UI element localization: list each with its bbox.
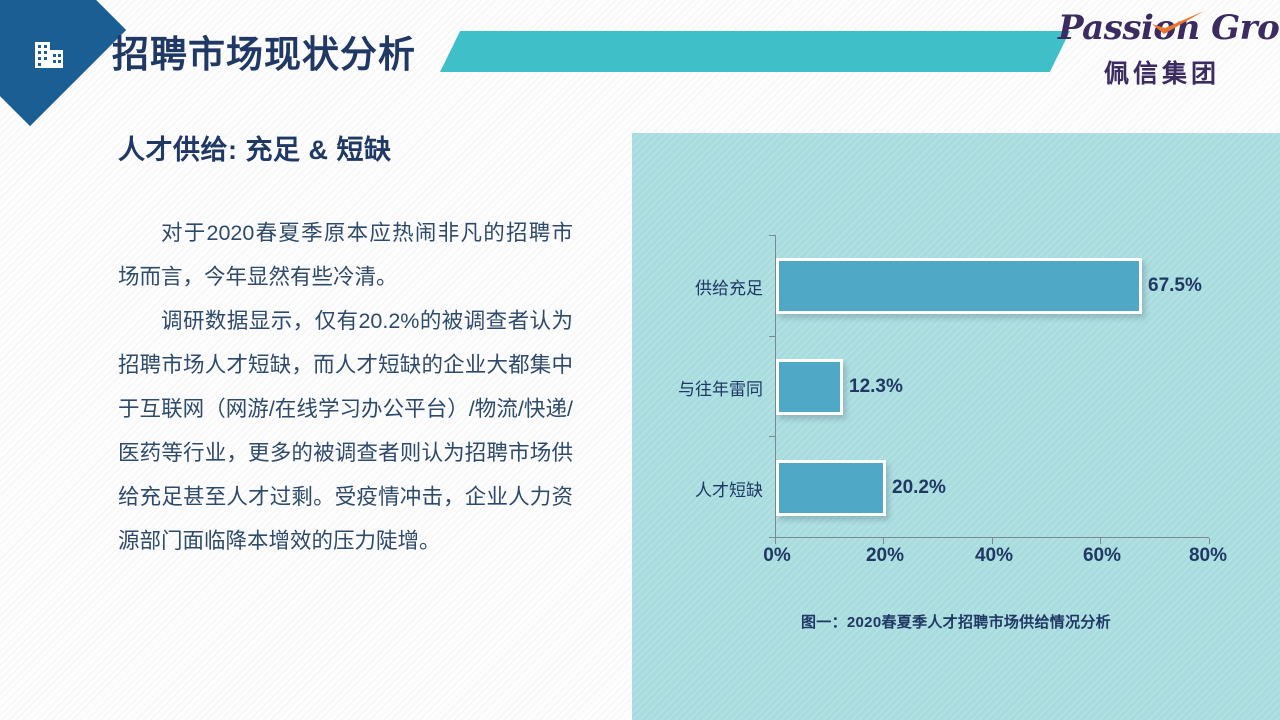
slide-header: 招聘市场现状分析 Passion Group 佩信集团 [0, 0, 1280, 110]
bar-chart: 供给充足 67.5% 与往年雷同 12.3% 人才短缺 20.2% 0% 20%… [632, 133, 1280, 720]
orange-check-icon [1150, 10, 1206, 36]
content-text-column: 人才供给: 充足 & 短缺 对于2020春夏季原本应热闹非凡的招聘市场而言，今年… [118, 128, 573, 563]
y-axis-tick [769, 235, 775, 236]
bar-value-label: 12.3% [849, 359, 903, 415]
brand-logo: Passion Group 佩信集团 [1058, 8, 1266, 90]
bar-value-label: 20.2% [892, 460, 946, 516]
page-title: 招聘市场现状分析 [112, 24, 416, 78]
bar-supply-sufficient [776, 258, 1142, 314]
x-axis-tick [883, 538, 884, 544]
section-subheading: 人才供给: 充足 & 短缺 [118, 128, 573, 167]
x-axis-label-4: 80% [1189, 545, 1227, 567]
logo-chinese-text: 佩信集团 [1058, 54, 1266, 90]
x-axis-tick [992, 538, 993, 544]
body-paragraph-2: 调研数据显示，仅有20.2%的被调查者认为招聘市场人才短缺，而人才短缺的企业大都… [118, 299, 573, 563]
x-axis-tick [775, 538, 776, 544]
x-axis-label-0: 0% [763, 545, 790, 567]
chart-panel: 供给充足 67.5% 与往年雷同 12.3% 人才短缺 20.2% 0% 20%… [632, 133, 1280, 720]
y-axis-tick [769, 336, 775, 337]
bar-value-label: 67.5% [1148, 258, 1202, 314]
x-axis-tick [1209, 538, 1210, 544]
bar-same-as-previous-years [776, 359, 843, 415]
body-paragraph-1: 对于2020春夏季原本应热闹非凡的招聘市场而言，今年显然有些冷清。 [118, 211, 573, 299]
x-axis-label-2: 40% [975, 545, 1013, 567]
bar-talent-shortage [776, 460, 886, 516]
office-building-icon [26, 32, 72, 78]
x-axis-label-1: 20% [866, 545, 904, 567]
slide-background: 招聘市场现状分析 Passion Group 佩信集团 人才供给: 充足 & 短… [0, 0, 1280, 720]
x-axis-label-3: 60% [1083, 545, 1121, 567]
x-axis-tick [1100, 538, 1101, 544]
y-axis-tick [769, 436, 775, 437]
chart-caption: 图一：2020春夏季人才招聘市场供给情况分析 [632, 611, 1280, 632]
header-accent-band [440, 31, 1070, 72]
